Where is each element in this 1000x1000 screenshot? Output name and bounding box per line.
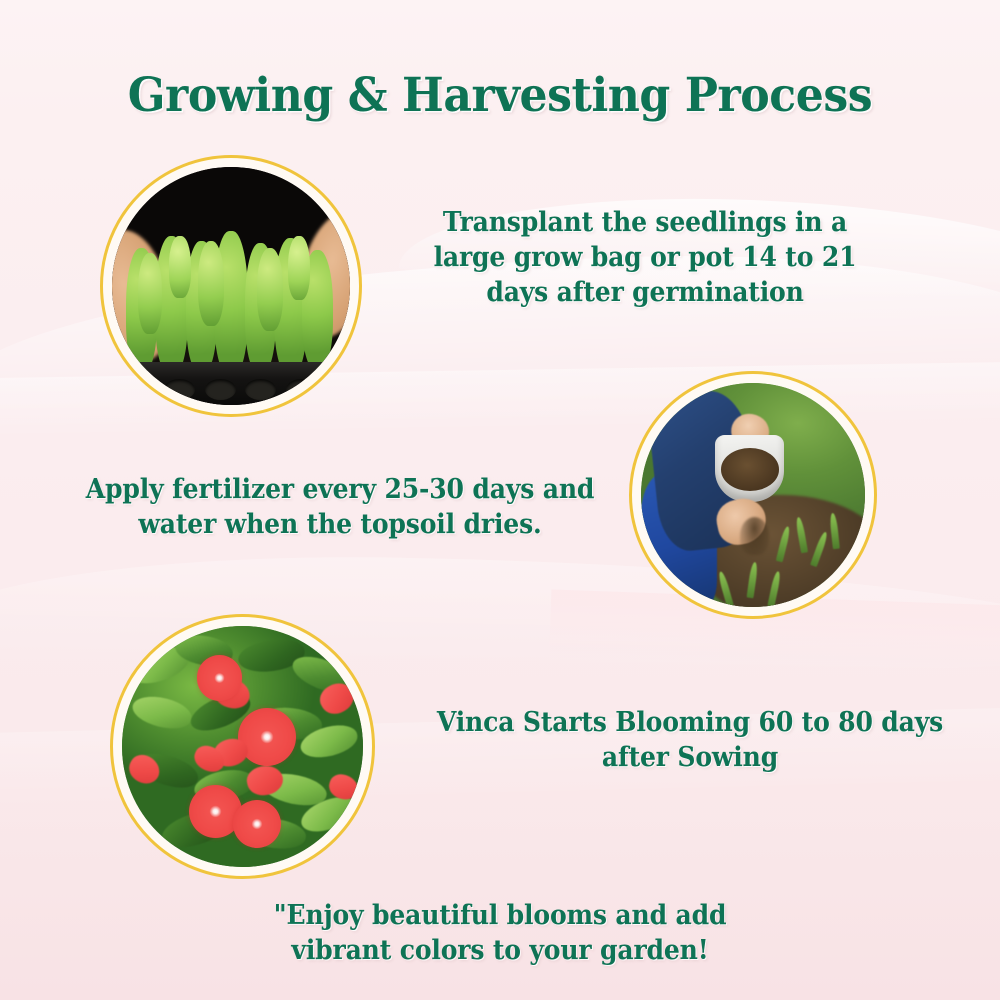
step-2-photo <box>629 371 877 619</box>
step-3-caption: Vinca Starts Blooming 60 to 80 days afte… <box>420 705 959 775</box>
step-1-photo <box>100 155 362 417</box>
fertilizing-image <box>641 383 865 607</box>
infographic-poster: Growing & Harvesting Process <box>0 0 1000 1000</box>
step-2-caption: Apply fertilizer every 25-30 days and wa… <box>80 472 601 542</box>
footer-caption: "Enjoy beautiful blooms and add vibrant … <box>249 898 751 968</box>
step-1-caption: Transplant the seedlings in a large grow… <box>408 205 882 310</box>
page-title: Growing & Harvesting Process <box>30 68 970 123</box>
seedling-tray-image <box>112 167 350 405</box>
vinca-flowers-image <box>122 626 363 867</box>
step-3-photo <box>110 614 375 879</box>
